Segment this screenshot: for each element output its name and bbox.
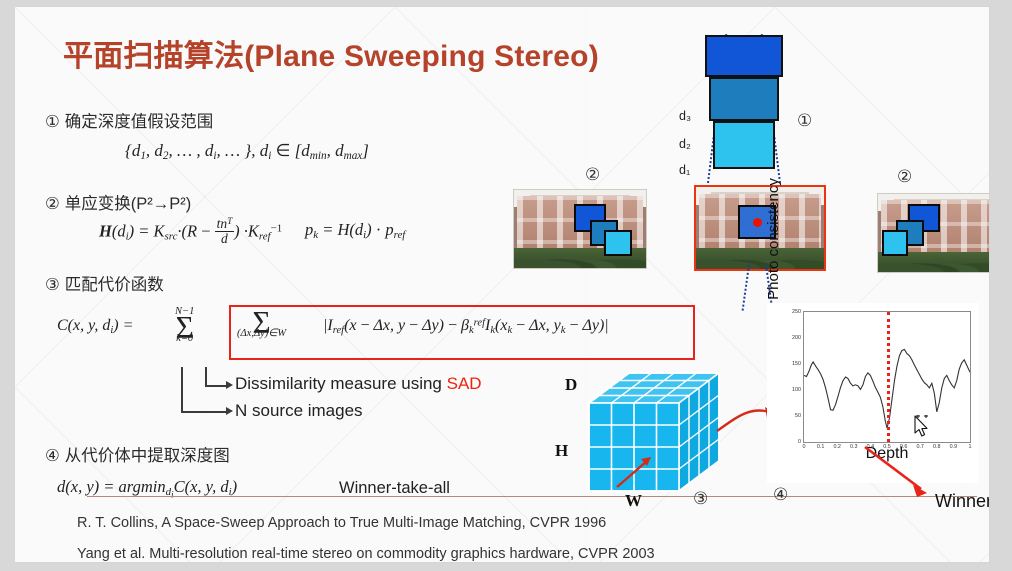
n-source-images-annotation: N source images xyxy=(235,401,363,421)
dissimilarity-annotation: Dissimilarity measure using SAD xyxy=(235,374,482,394)
cost-volume-cube: D H W xyxy=(571,369,731,509)
chart-ylabel: Photo consistency xyxy=(765,173,782,305)
depth-label-d2: d₂ xyxy=(679,137,691,151)
formula-cost-body: |Iref(x − Δx, y − Δy) − βkrefIk(xk − Δx,… xyxy=(323,317,609,336)
connector-arrow-lower-icon xyxy=(226,407,233,415)
reference-image-center xyxy=(694,185,826,271)
formula-depth-range: {d1, d2, … , di, … }, di ∈ [dmin, dmax] xyxy=(125,141,369,162)
cube-label-h: H xyxy=(555,441,568,461)
source-image-left xyxy=(513,189,647,269)
plane-sweep-frustum-diagram: d₃ d₂ d₁ xyxy=(691,33,861,193)
step-2-heading: ②单应变换(P²→P²) xyxy=(45,190,191,214)
cube-label-d: D xyxy=(565,375,577,395)
marker-2-right: ② xyxy=(897,167,912,187)
formula-projection: pk = H(di) · pref xyxy=(305,220,405,241)
warped-patch-d1-left xyxy=(604,230,632,256)
marker-1: ① xyxy=(797,111,812,131)
reference-1: R. T. Collins, A Space-Sweep Approach to… xyxy=(77,515,606,531)
depth-label-d3: d₃ xyxy=(679,109,691,123)
formula-cost-outer-sum: N−1 Σ k=0 xyxy=(175,307,194,344)
step-3-number: ③ xyxy=(45,276,60,294)
step-1-number: ① xyxy=(45,113,60,131)
step-4-label: 从代价体中提取深度图 xyxy=(65,447,230,465)
chart-winner-marker-line xyxy=(887,312,890,442)
reference-divider xyxy=(87,496,977,497)
winner-arrow-icon xyxy=(863,445,943,503)
cube-label-w: W xyxy=(625,491,642,511)
marker-4: ④ xyxy=(773,485,788,505)
source-image-right xyxy=(877,193,990,273)
reference-2: Yang et al. Multi-resolution real-time s… xyxy=(77,546,655,562)
reference-pixel-dot xyxy=(753,218,762,227)
chart-ytick-50: 50 xyxy=(795,413,801,419)
winner-label: Winner xyxy=(935,491,990,512)
chart-plot-area: 0 50 100 150 200 250 0 0.1 0.2 0.3 0.4 0… xyxy=(803,311,971,443)
chart-ytick-250: 250 xyxy=(792,309,801,315)
photo-foliage-center xyxy=(696,248,824,269)
reference-ray-left-icon xyxy=(742,265,750,311)
formula-homography: H(di) = Ksrc·(R − tnTd) ·Kref−1 xyxy=(99,218,282,247)
marker-3: ③ xyxy=(693,489,708,509)
marker-2-left: ② xyxy=(585,165,600,185)
step-3-heading: ③匹配代价函数 xyxy=(45,271,164,295)
sad-label: SAD xyxy=(447,374,482,393)
move-cursor-icon xyxy=(913,415,935,439)
step-3-label: 匹配代价函数 xyxy=(65,276,164,294)
step-2-label: 单应变换(P²→P²) xyxy=(65,195,192,213)
cost-volume-svg xyxy=(571,369,731,509)
slide-canvas: 平面扫描算法(Plane Sweeping Stereo) ①确定深度值假设范围… xyxy=(14,6,990,563)
depth-label-d1: d₁ xyxy=(679,163,690,177)
dissimilarity-text: Dissimilarity measure using xyxy=(235,374,447,393)
step-1-label: 确定深度值假设范围 xyxy=(65,113,214,131)
chart-ytick-200: 200 xyxy=(792,335,801,341)
depth-plane-2 xyxy=(709,77,779,121)
formula-cost-inner-sum: Σ (Δx,Δy)∈W xyxy=(237,309,286,340)
formula-cost-lhs: C(x, y, di) = xyxy=(57,317,133,336)
depth-plane-1 xyxy=(713,121,775,169)
formula-argmin: d(x, y) = argmindiC(x, y, di) xyxy=(57,477,237,501)
page-title: 平面扫描算法(Plane Sweeping Stereo) xyxy=(63,31,599,75)
chart-ytick-150: 150 xyxy=(792,361,801,367)
chart-ytick-0: 0 xyxy=(798,439,801,445)
chart-ytick-100: 100 xyxy=(792,387,801,393)
step-4-heading: ④从代价体中提取深度图 xyxy=(45,442,230,466)
step-2-number: ② xyxy=(45,195,60,213)
connector-elbow-lower xyxy=(181,367,229,413)
warped-patch-d1-right xyxy=(882,230,908,256)
step-4-number: ④ xyxy=(45,447,60,465)
step-1-heading: ①确定深度值假设范围 xyxy=(45,108,213,132)
depth-plane-3 xyxy=(705,35,783,77)
